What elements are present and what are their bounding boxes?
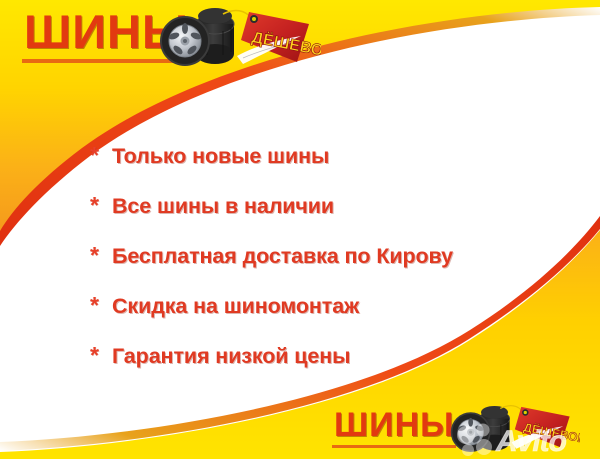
list-item: * Скидка на шиномонтаж	[90, 290, 590, 340]
feature-list: * Только новые шины * Все шины в наличии…	[90, 140, 590, 390]
bullet-star-icon: *	[90, 140, 112, 170]
list-item: * Бесплатная доставка по Кирову	[90, 240, 590, 290]
list-item-label: Гарантия низкой цены	[112, 341, 350, 371]
list-item: * Гарантия низкой цены	[90, 340, 590, 390]
bullet-star-icon: *	[90, 340, 112, 370]
list-item-label: Все шины в наличии	[112, 191, 334, 221]
list-item-label: Скидка на шиномонтаж	[112, 291, 359, 321]
list-item: * Только новые шины	[90, 140, 590, 190]
price-tag-icon: ДЁШЕВО!	[221, 6, 321, 68]
price-tag-icon: ДЁШЕВО!	[498, 402, 580, 452]
bottom-logo: ШИНЫ	[330, 400, 600, 459]
list-item-label: Только новые шины	[112, 141, 329, 171]
bullet-star-icon: *	[90, 240, 112, 270]
tire-shop-advertisement-banner: ШИНЫ	[0, 0, 600, 459]
list-item: * Все шины в наличии	[90, 190, 590, 240]
top-logo: ШИНЫ	[16, 4, 316, 72]
bullet-star-icon: *	[90, 190, 112, 220]
bottom-logo-wordmark: ШИНЫ	[332, 406, 456, 448]
list-item-label: Бесплатная доставка по Кирову	[112, 241, 453, 271]
bullet-star-icon: *	[90, 290, 112, 320]
